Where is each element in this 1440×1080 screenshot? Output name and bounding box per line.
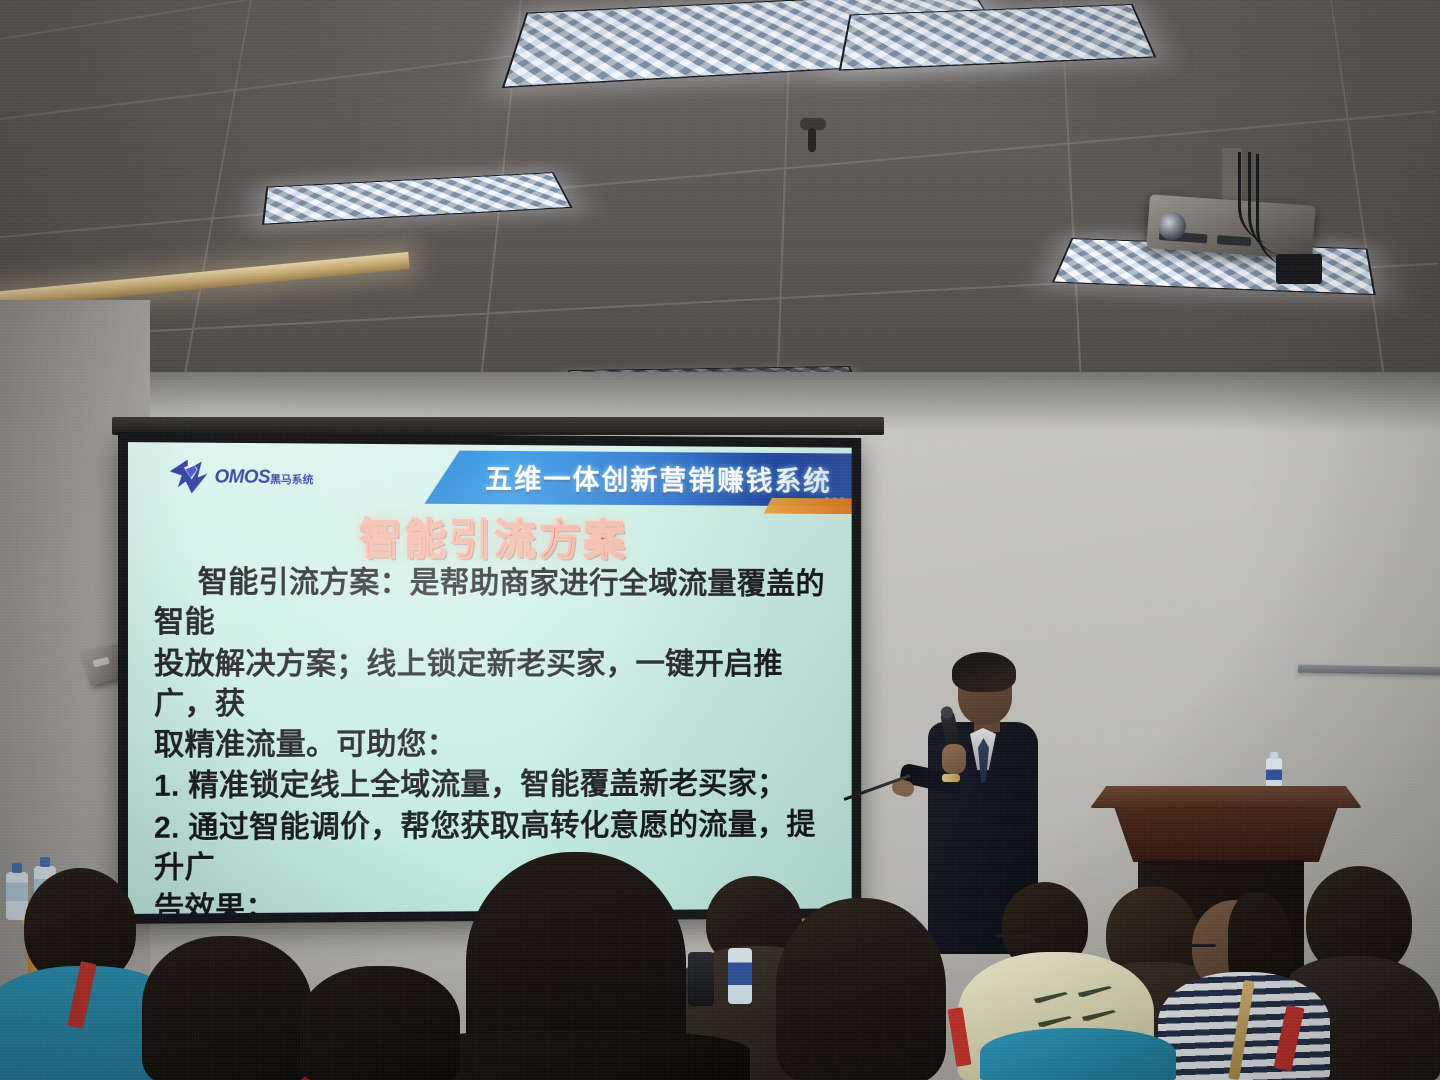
photo-scene: 五维一体创新营销赚钱系统 落地操作班 EXECUTION LANDING CLA… xyxy=(0,0,1440,1080)
slide-title: 智能引流方案 xyxy=(128,504,852,569)
eyeglasses-icon xyxy=(1186,944,1216,947)
brand-logo: OMOS黑马系统 xyxy=(168,454,314,499)
slide-body-line: 取精准流量。可助您： xyxy=(154,724,835,765)
slide-body: 智能引流方案：是帮助商家进行全域流量覆盖的智能 投放解决方案；线上锁定新老买家，… xyxy=(154,562,835,914)
brand-logo-cn: 黑马系统 xyxy=(270,474,313,486)
projector-cable xyxy=(1256,154,1321,268)
attendee-head xyxy=(776,898,946,1080)
lectern-front-panel xyxy=(1104,806,1348,862)
projection-screen: 五维一体创新营销赚钱系统 落地操作班 EXECUTION LANDING CLA… xyxy=(118,432,861,924)
projector-lens-icon xyxy=(1158,212,1186,240)
presenter-right-hand xyxy=(942,744,966,774)
water-bottle-icon xyxy=(1266,758,1282,788)
slide-body-line: 投放解决方案；线上锁定新老买家，一键开启推广，获 xyxy=(154,644,835,724)
attendee-teal-polo xyxy=(980,1028,1176,1080)
detector-stem xyxy=(808,128,816,152)
horse-head-arrow-logo-icon xyxy=(168,457,212,495)
ceiling xyxy=(0,0,1440,430)
slide: 五维一体创新营销赚钱系统 落地操作班 EXECUTION LANDING CLA… xyxy=(128,442,852,914)
slide-header: 五维一体创新营销赚钱系统 落地操作班 EXECUTION LANDING CLA… xyxy=(128,448,852,508)
slide-header-title: 五维一体创新营销赚钱系统 xyxy=(485,458,832,500)
slide-body-line: 2. 通过智能调价，帮您获取高转化意愿的流量，提升广 xyxy=(154,804,835,887)
eyeglasses-icon xyxy=(996,934,1030,937)
mobile-phone-icon xyxy=(688,952,714,1006)
brand-logo-text: OMOS黑马系统 xyxy=(215,467,314,487)
wristwatch-icon xyxy=(942,774,960,782)
attendee-head xyxy=(300,966,460,1080)
projector-junction-box xyxy=(1276,254,1322,284)
water-bottle-icon xyxy=(728,948,752,1004)
slide-body-line: 1. 精准锁定线上全域流量，智能覆盖新老买家； xyxy=(154,764,835,806)
brand-logo-latin: OMOS xyxy=(215,466,271,487)
attendee-head xyxy=(142,936,312,1080)
slide-body-line: 智能引流方案：是帮助商家进行全域流量覆盖的智能 xyxy=(154,562,835,643)
presenter-hair xyxy=(952,652,1016,692)
lectern-top xyxy=(1090,786,1362,808)
